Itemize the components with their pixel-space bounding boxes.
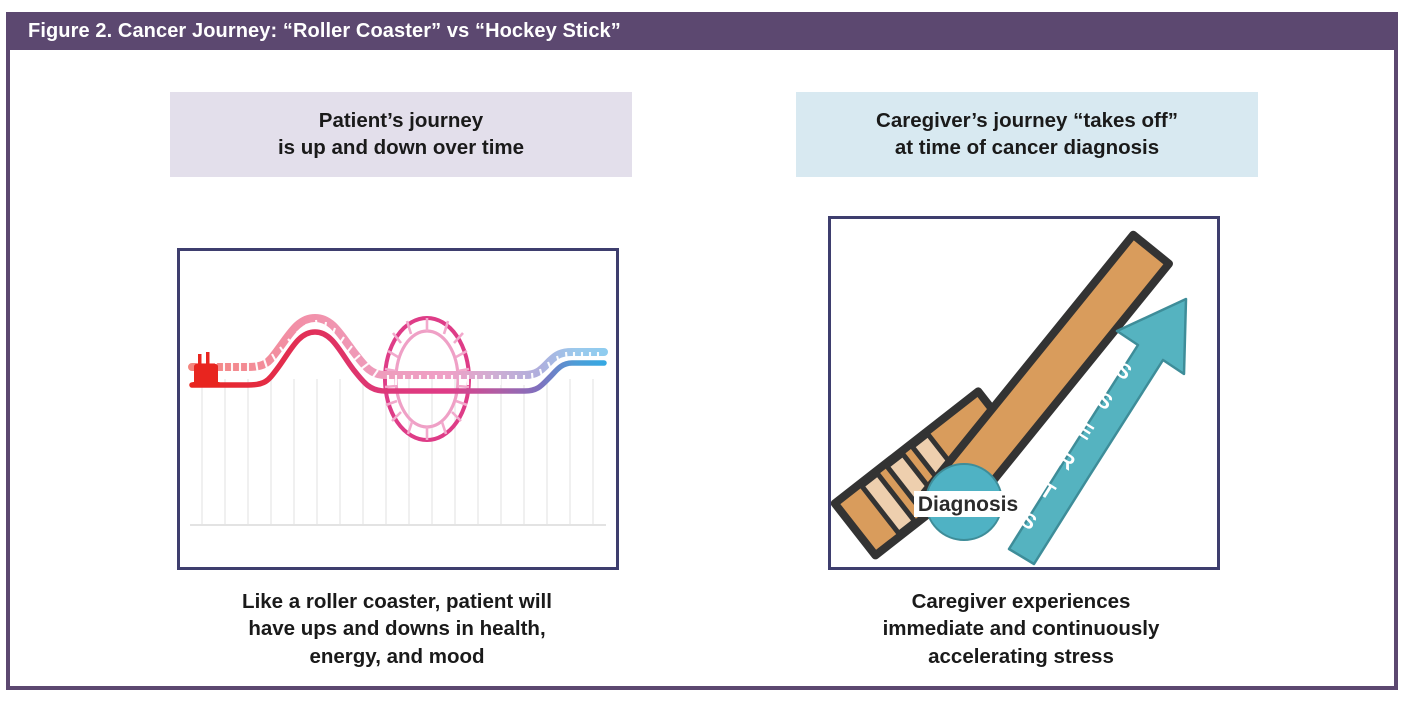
- caregiver-journey-header-line2: at time of cancer diagnosis: [806, 134, 1248, 161]
- roller-coaster-caption-line1: Like a roller coaster, patient will: [162, 588, 632, 615]
- roller-coaster-caption-line3: energy, and mood: [162, 643, 632, 670]
- coaster-car: [192, 352, 220, 387]
- hockey-stick-caption-line3: accelerating stress: [786, 643, 1256, 670]
- figure-title: Figure 2. Cancer Journey: “Roller Coaste…: [6, 20, 621, 43]
- roller-coaster-illustration: [180, 251, 616, 567]
- diagnosis-label: Diagnosis: [914, 491, 1022, 517]
- roller-coaster-caption: Like a roller coaster, patient will have…: [162, 588, 632, 670]
- hockey-stick-illustration: S T R E S S Diagnosis: [831, 219, 1217, 567]
- right-column: Caregiver’s journey “takes off” at time …: [786, 92, 1256, 177]
- patient-journey-header: Patient’s journey is up and down over ti…: [170, 92, 632, 177]
- roller-coaster-panel: [177, 248, 619, 570]
- patient-journey-header-line1: Patient’s journey: [180, 107, 622, 134]
- left-column: Patient’s journey is up and down over ti…: [162, 92, 632, 177]
- hockey-stick-caption-line2: immediate and continuously: [786, 615, 1256, 642]
- figure-title-bar: Figure 2. Cancer Journey: “Roller Coaste…: [6, 12, 1398, 50]
- hockey-stick-panel: S T R E S S Diagnosis: [828, 216, 1220, 570]
- caregiver-journey-header: Caregiver’s journey “takes off” at time …: [796, 92, 1258, 177]
- hockey-stick-caption: Caregiver experiences immediate and cont…: [786, 588, 1256, 670]
- diagnosis-label-text: Diagnosis: [918, 493, 1018, 516]
- coaster-support-pillars: [202, 379, 593, 525]
- roller-coaster-caption-line2: have ups and downs in health,: [162, 615, 632, 642]
- hockey-stick-caption-line1: Caregiver experiences: [786, 588, 1256, 615]
- caregiver-journey-header-line1: Caregiver’s journey “takes off”: [806, 107, 1248, 134]
- patient-journey-header-line2: is up and down over time: [180, 134, 622, 161]
- figure-frame: Figure 2. Cancer Journey: “Roller Coaste…: [6, 12, 1398, 690]
